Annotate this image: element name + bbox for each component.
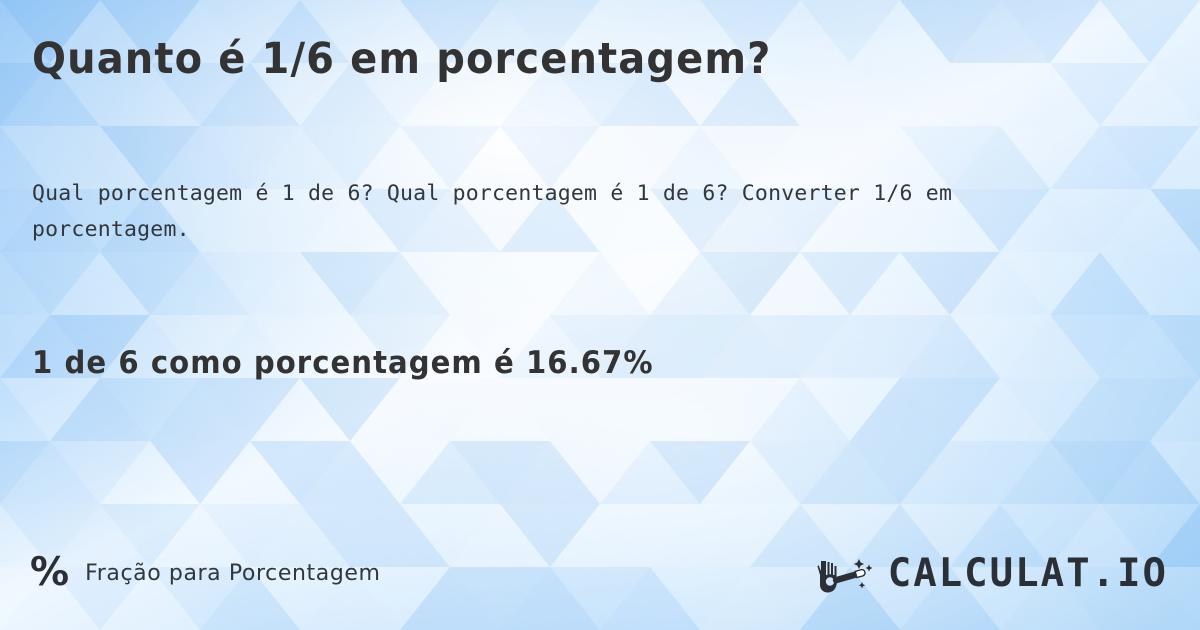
answer-text: 1 de 6 como porcentagem é 16.67% — [32, 345, 654, 381]
page-title: Quanto é 1/6 em porcentagem? — [32, 34, 771, 84]
site-logo: CALCULAT.IO — [817, 550, 1168, 598]
page-description: Qual porcentagem é 1 de 6? Qual porcenta… — [32, 176, 1062, 248]
site-logo-text: CALCULAT.IO — [888, 554, 1168, 593]
content-card: Quanto é 1/6 em porcentagem? Qual porcen… — [0, 0, 1200, 630]
footer-category-label: Fração para Porcentagem — [85, 561, 381, 586]
footer: % Fração para Porcentagem — [0, 548, 1200, 602]
magic-wand-hand-icon — [817, 554, 879, 594]
percent-icon: % — [30, 553, 69, 592]
footer-category: % Fração para Porcentagem — [30, 548, 381, 598]
